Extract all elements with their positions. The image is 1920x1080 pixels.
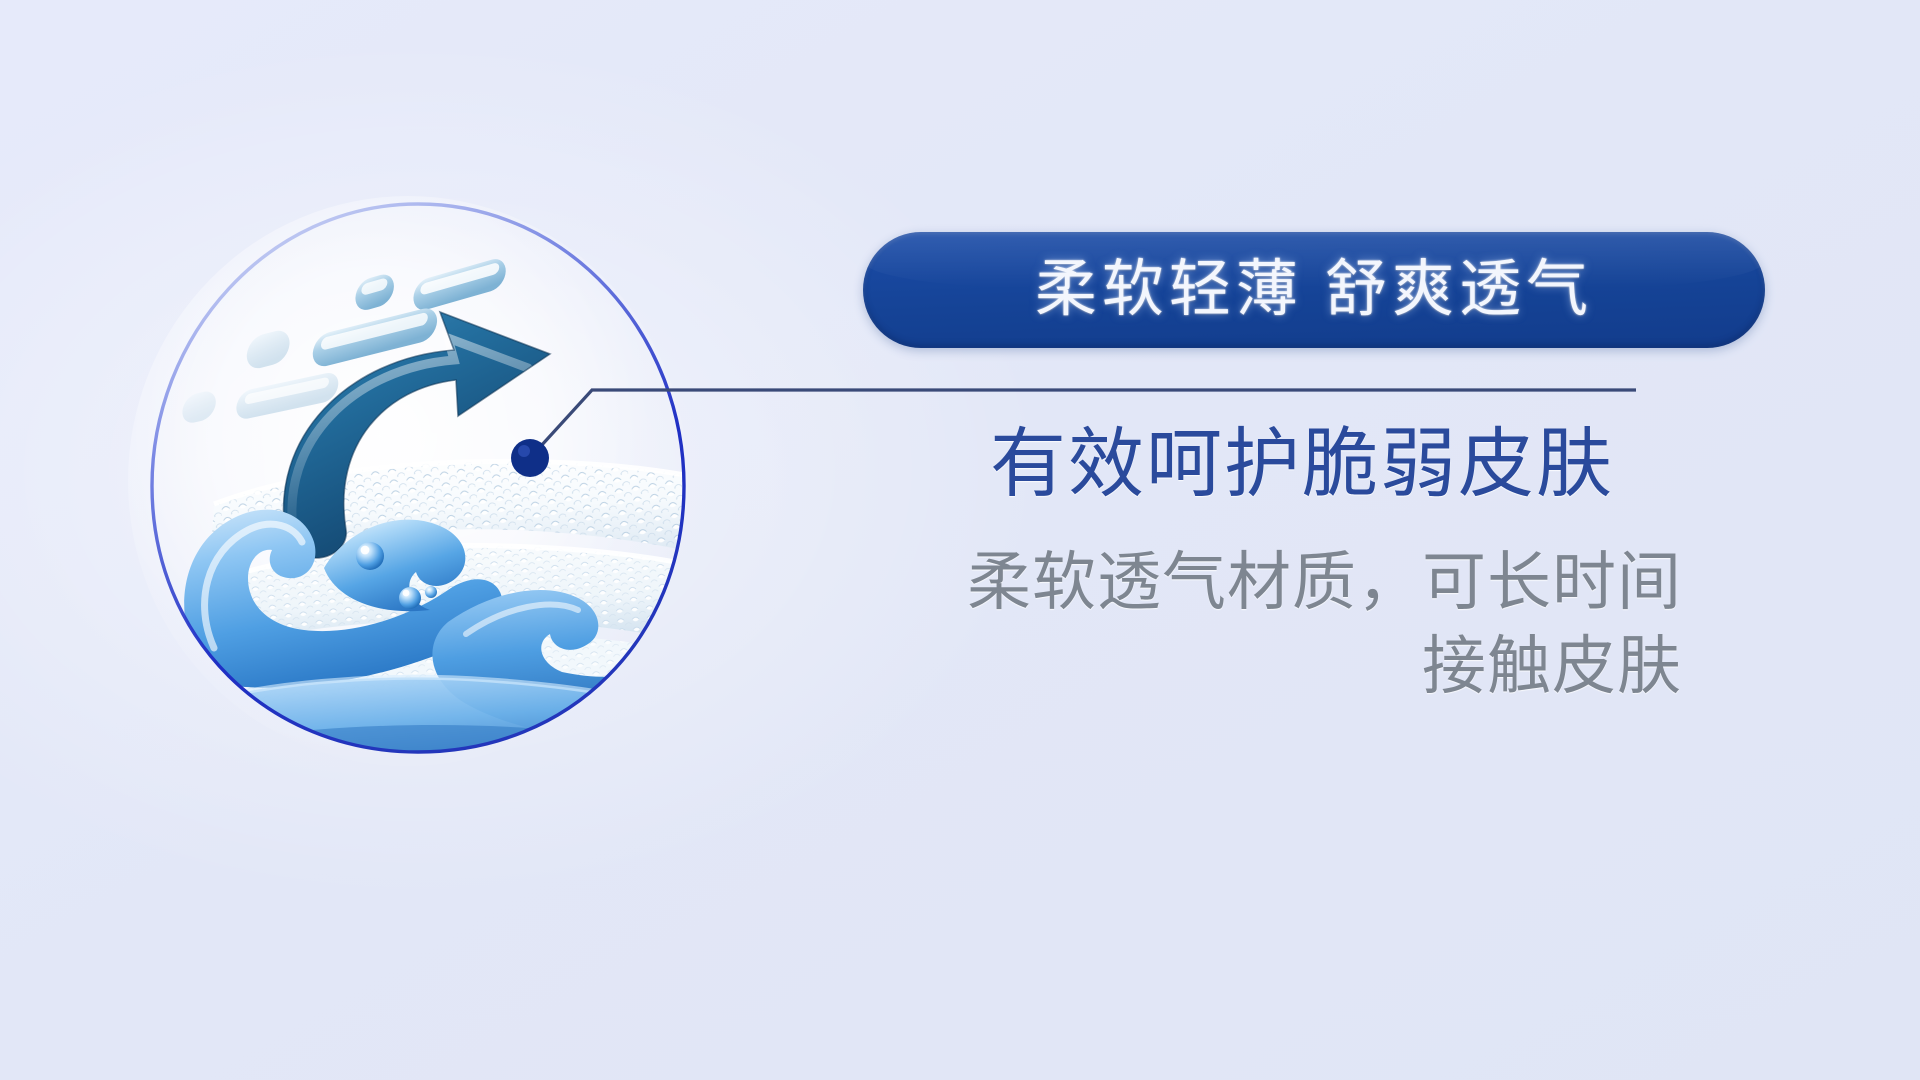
feature-pill-banner: 柔软轻薄 舒爽透气 — [863, 232, 1765, 348]
breathable-fabric-water-illustration — [118, 186, 718, 766]
feature-text-column: 柔软轻薄 舒爽透气 有效呵护脆弱皮肤 柔软透气材质，可长时间 接触皮肤 — [840, 210, 1800, 770]
description-line-2: 接触皮肤 — [840, 624, 1682, 708]
pill-banner-label: 柔软轻薄 舒爽透气 — [1035, 259, 1593, 321]
description-line-1: 柔软透气材质，可长时间 — [840, 540, 1682, 624]
feature-headline: 有效呵护脆弱皮肤 — [990, 426, 1614, 504]
feature-banner-stage: 柔软轻薄 舒爽透气 有效呵护脆弱皮肤 柔软透气材质，可长时间 接触皮肤 — [0, 0, 1920, 1080]
feature-description: 柔软透气材质，可长时间 接触皮肤 — [840, 540, 1682, 709]
